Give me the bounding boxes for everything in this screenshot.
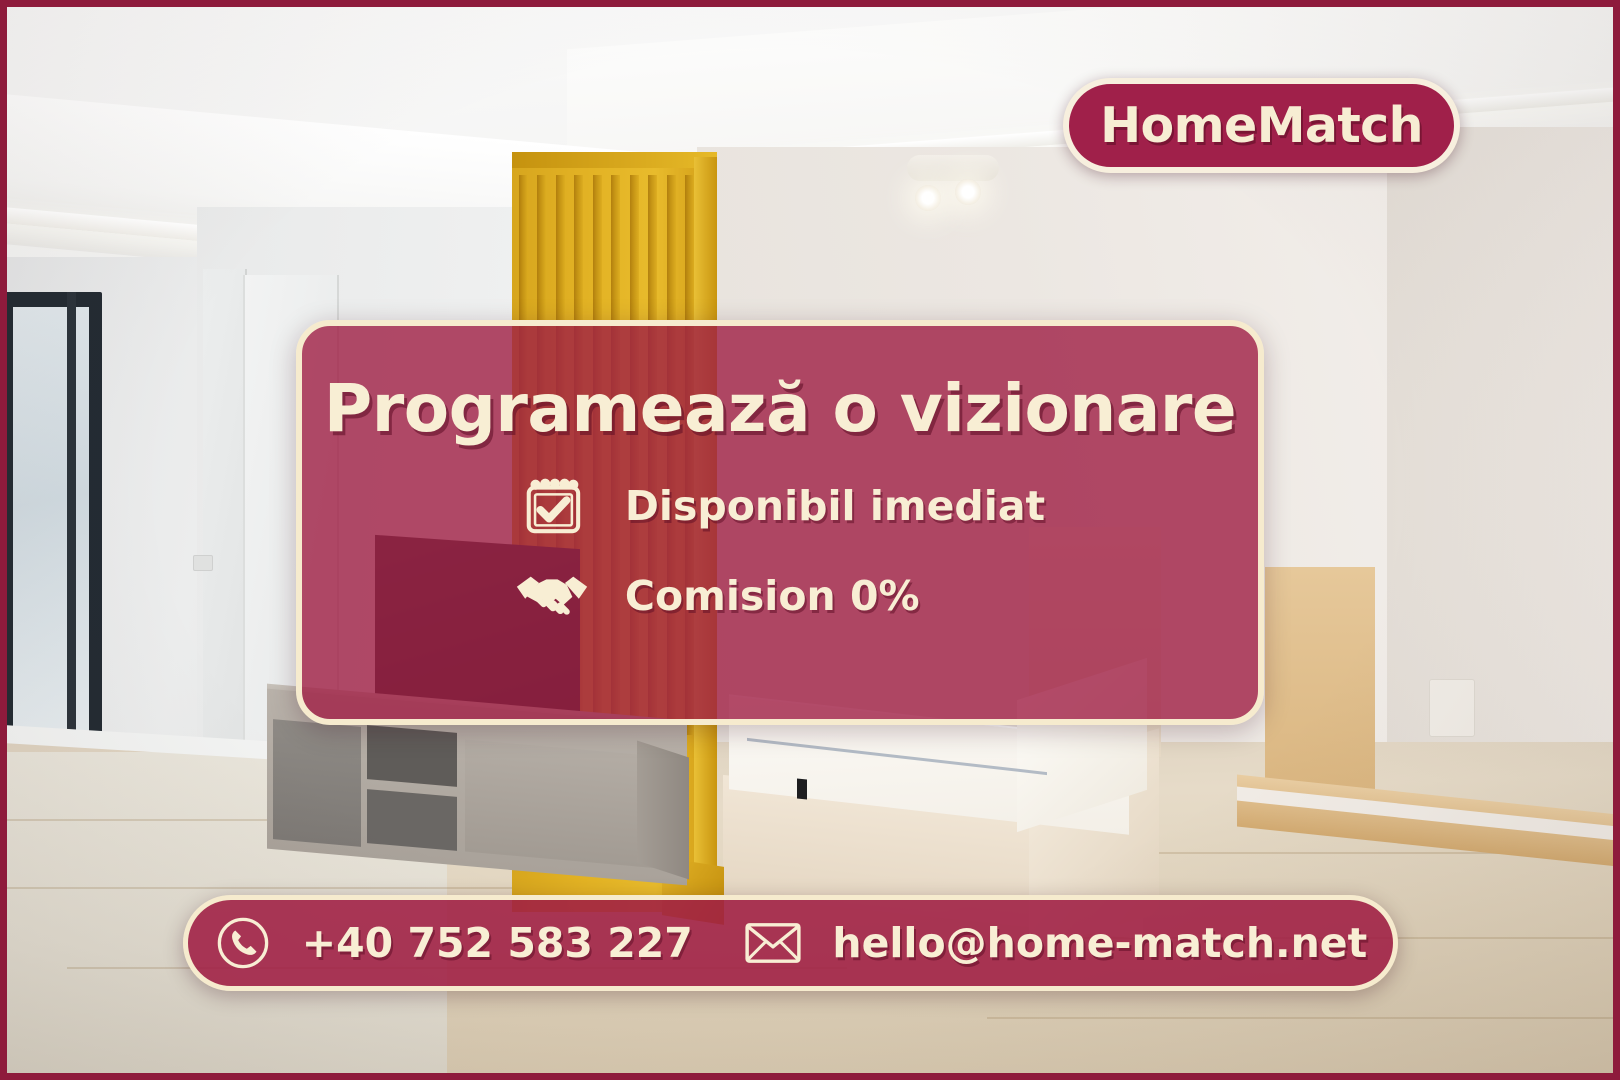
contact-bar: +40 752 583 227 hello@home-match.net — [183, 895, 1398, 991]
feature-label-commission: Comision 0% — [625, 572, 920, 620]
logo-badge[interactable]: HomeMatch — [1063, 78, 1460, 173]
email-address: hello@home-match.net — [832, 919, 1367, 967]
advertisement-banner: HomeMatch Programează o vizionare — [0, 0, 1620, 1080]
feature-label-availability: Disponibil imediat — [625, 482, 1045, 530]
contact-email[interactable]: hello@home-match.net — [744, 916, 1367, 970]
feature-item-commission: Comision 0% — [515, 563, 920, 629]
phone-number: +40 752 583 227 — [302, 919, 693, 967]
card-title: Programează o vizionare — [324, 374, 1236, 443]
contact-phone[interactable]: +40 752 583 227 — [214, 916, 693, 970]
envelope-icon — [744, 916, 802, 970]
calendar-check-icon — [515, 473, 589, 539]
logo-text: HomeMatch — [1100, 97, 1423, 154]
phone-icon — [214, 916, 272, 970]
feature-list: Disponibil imediat Comision 0% — [515, 473, 1045, 629]
handshake-icon — [515, 563, 589, 629]
offer-card: Programează o vizionare Disponibil — [296, 320, 1264, 725]
feature-item-availability: Disponibil imediat — [515, 473, 1045, 539]
